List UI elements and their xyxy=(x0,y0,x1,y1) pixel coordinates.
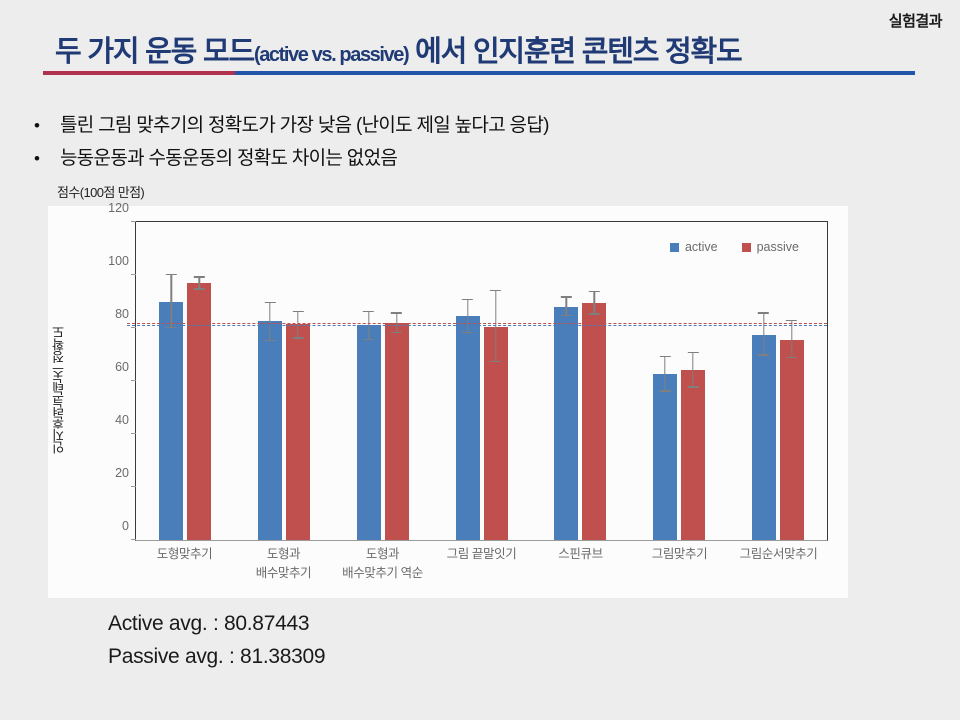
chart-bars-layer xyxy=(136,222,827,540)
error-bar-passive xyxy=(199,276,200,289)
x-axis-label-line: 스핀큐브 xyxy=(531,545,630,564)
bar-group xyxy=(630,222,729,540)
bar-group xyxy=(728,222,827,540)
reference-line-active-average xyxy=(127,325,827,326)
title-rule-blue-segment xyxy=(235,71,915,75)
chart-score-caption: 점수(100점 만점) xyxy=(57,182,144,201)
bar-passive[interactable] xyxy=(582,303,606,540)
page-title-paren: (active vs. passive) xyxy=(254,44,408,66)
chart-y-axis-title: 인지훈련콘텐츠 정확도 xyxy=(48,290,70,490)
bar-passive[interactable] xyxy=(286,324,310,540)
legend-swatch-icon xyxy=(742,243,751,252)
x-axis-label-line: 그림맞추기 xyxy=(630,545,729,564)
x-axis-label-line: 그림 끝말잇기 xyxy=(432,545,531,564)
x-axis-label-line: 배수맞추기 역순 xyxy=(333,564,432,583)
x-axis-label: 그림순서맞추기 xyxy=(729,545,828,583)
page-title-part-2: 에서 인지훈련 콘텐츠 정확도 xyxy=(408,36,741,68)
bar-passive[interactable] xyxy=(780,340,804,540)
bar-group xyxy=(235,222,334,540)
chart-x-axis-labels: 도형맞추기도형과배수맞추기도형과배수맞추기 역순그림 끝말잇기스핀큐브그림맞추기… xyxy=(135,545,828,583)
x-axis-label: 스핀큐브 xyxy=(531,545,630,583)
legend-label: passive xyxy=(757,240,799,254)
error-bar-active xyxy=(664,356,665,392)
error-bar-active xyxy=(763,312,764,356)
y-axis-tick-label: 60 xyxy=(115,360,129,374)
bar-group xyxy=(136,222,235,540)
bar-active[interactable] xyxy=(258,321,282,540)
bullet-list: • 틀린 그림 맞추기의 정확도가 가장 낮음 (난이도 제일 높다고 응답) … xyxy=(34,112,914,178)
error-bar-passive xyxy=(495,290,496,363)
bar-active[interactable] xyxy=(357,325,381,540)
x-axis-label: 그림 끝말잇기 xyxy=(432,545,531,583)
y-axis-tick-label: 120 xyxy=(108,201,129,215)
bar-active[interactable] xyxy=(653,374,677,540)
legend-item-passive[interactable]: passive xyxy=(742,240,799,254)
bar-wrapper xyxy=(258,222,282,540)
x-axis-label: 도형과배수맞추기 xyxy=(234,545,333,583)
bullet-item: • 틀린 그림 맞추기의 정확도가 가장 낮음 (난이도 제일 높다고 응답) xyxy=(34,112,914,139)
x-axis-label: 도형과배수맞추기 역순 xyxy=(333,545,432,583)
bar-group xyxy=(432,222,531,540)
bar-wrapper xyxy=(752,222,776,540)
bar-passive[interactable] xyxy=(385,323,409,540)
x-axis-label-line: 배수맞추기 xyxy=(234,564,333,583)
active-average-text: Active avg. : 80.87443 xyxy=(108,607,325,640)
bar-group xyxy=(531,222,630,540)
x-axis-label-line: 도형과 xyxy=(234,545,333,564)
bar-wrapper xyxy=(357,222,381,540)
title-rule-red-segment xyxy=(43,71,235,75)
error-bar-active xyxy=(269,302,270,342)
bullet-text: 틀린 그림 맞추기의 정확도가 가장 낮음 (난이도 제일 높다고 응답) xyxy=(60,112,549,139)
slide-section-tag: 실험결과 xyxy=(889,10,942,31)
y-axis-tick-label: 20 xyxy=(115,466,129,480)
bar-wrapper xyxy=(582,222,606,540)
bar-wrapper xyxy=(484,222,508,540)
title-underline-rule xyxy=(43,71,915,75)
bar-group xyxy=(333,222,432,540)
y-axis-tick-label: 0 xyxy=(122,519,129,533)
legend-swatch-icon xyxy=(670,243,679,252)
error-bar-active xyxy=(467,299,468,333)
error-bar-passive xyxy=(692,352,693,388)
bar-passive[interactable] xyxy=(681,370,705,540)
average-summary: Active avg. : 80.87443 Passive avg. : 81… xyxy=(108,607,325,673)
bar-wrapper xyxy=(780,222,804,540)
bullet-text: 능동운동과 수동운동의 정확도 차이는 없었음 xyxy=(60,145,397,172)
passive-average-text: Passive avg. : 81.38309 xyxy=(108,640,325,673)
bar-wrapper xyxy=(653,222,677,540)
bar-wrapper xyxy=(385,222,409,540)
error-bar-active xyxy=(171,274,172,328)
bar-active[interactable] xyxy=(456,316,480,540)
error-bar-passive xyxy=(791,320,792,358)
page-title-part-1: 두 가지 운동 모드 xyxy=(55,36,254,68)
bar-active[interactable] xyxy=(554,307,578,540)
y-axis-tick-label: 100 xyxy=(108,254,129,268)
bar-wrapper xyxy=(159,222,183,540)
bullet-item: • 능동운동과 수동운동의 정확도 차이는 없었음 xyxy=(34,145,914,172)
x-axis-label: 도형맞추기 xyxy=(135,545,234,583)
y-axis-tick-label: 40 xyxy=(115,413,129,427)
x-axis-label-line: 그림순서맞추기 xyxy=(729,545,828,564)
legend-label: active xyxy=(685,240,718,254)
bar-wrapper xyxy=(554,222,578,540)
x-axis-label: 그림맞추기 xyxy=(630,545,729,583)
page-title: 두 가지 운동 모드(active vs. passive) 에서 인지훈련 콘… xyxy=(55,28,741,70)
error-bar-active xyxy=(566,296,567,316)
error-bar-passive xyxy=(594,291,595,315)
bar-passive[interactable] xyxy=(187,283,211,540)
bullet-dot-icon: • xyxy=(34,145,60,172)
bar-wrapper xyxy=(286,222,310,540)
legend-item-active[interactable]: active xyxy=(670,240,718,254)
y-axis-tick-label: 80 xyxy=(115,307,129,321)
bar-active[interactable] xyxy=(159,302,183,541)
bullet-dot-icon: • xyxy=(34,112,60,139)
x-axis-label-line: 도형맞추기 xyxy=(135,545,234,564)
chart-plot-area: activepassive 020406080100120 xyxy=(135,221,828,541)
bar-wrapper xyxy=(456,222,480,540)
bar-wrapper xyxy=(681,222,705,540)
bar-wrapper xyxy=(187,222,211,540)
chart-legend: activepassive xyxy=(670,240,799,254)
bar-active[interactable] xyxy=(752,335,776,540)
x-axis-label-line: 도형과 xyxy=(333,545,432,564)
